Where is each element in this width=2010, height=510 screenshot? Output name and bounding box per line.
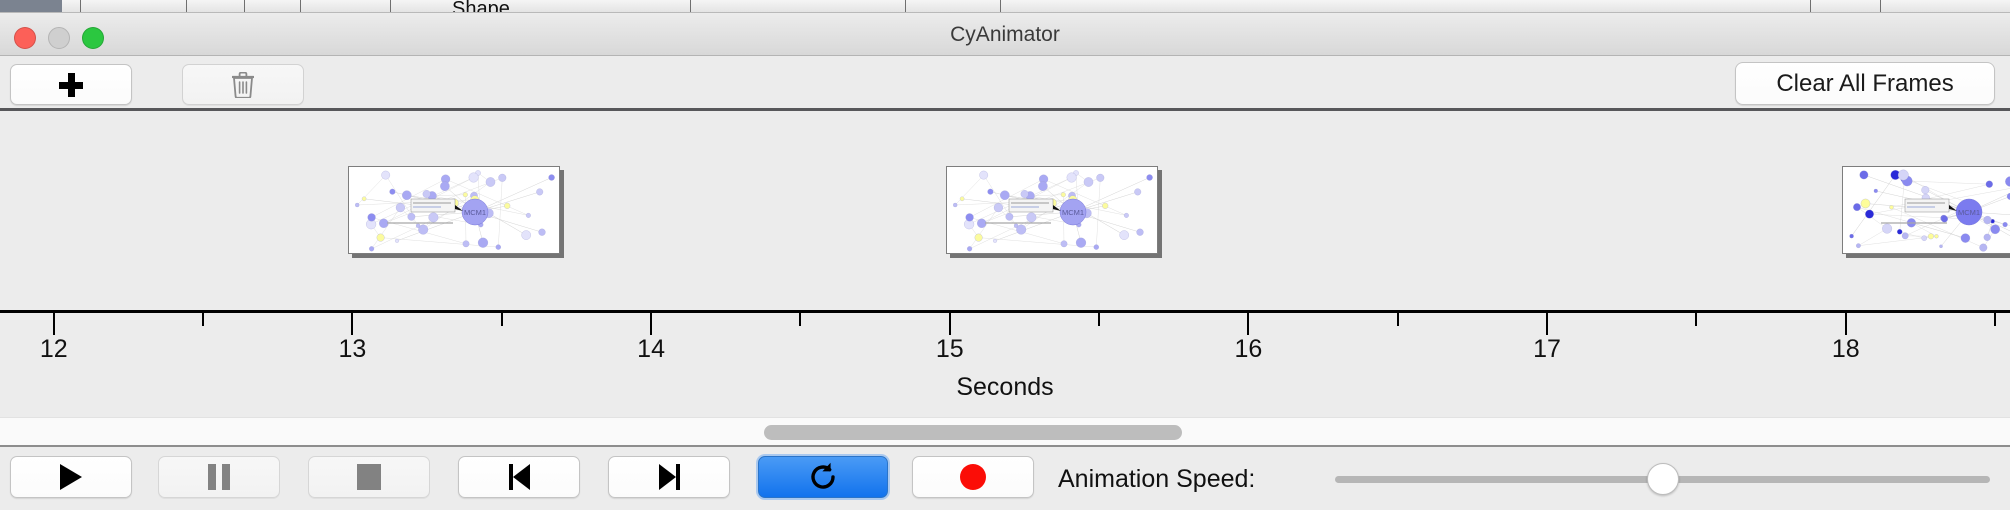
background-window-sidebar bbox=[0, 0, 62, 13]
skip-forward-button[interactable] bbox=[608, 456, 730, 498]
timeline-frame-thumbnail[interactable]: MCM1 bbox=[946, 166, 1158, 254]
axis-tick-label: 13 bbox=[339, 335, 367, 364]
axis-tick-minor bbox=[799, 313, 801, 326]
clear-all-frames-button[interactable]: Clear All Frames bbox=[1735, 62, 1995, 105]
axis-tick-major bbox=[1546, 313, 1548, 335]
timeline-panel[interactable]: MCM1 MCM1 MCM1 12131415161718 Seconds bbox=[0, 111, 2010, 417]
axis-tick-minor bbox=[1994, 313, 1996, 326]
axis-tick-minor bbox=[1695, 313, 1697, 326]
axis-tick-major bbox=[949, 313, 951, 335]
background-divider bbox=[80, 0, 81, 13]
svg-text:MCM1: MCM1 bbox=[1958, 208, 1980, 217]
timeline-frame-thumbnail[interactable]: MCM1 bbox=[1842, 166, 2010, 254]
background-divider bbox=[390, 0, 391, 13]
timeline-axis-title: Seconds bbox=[0, 373, 2010, 402]
title-bar: CyAnimator bbox=[0, 13, 2010, 56]
delete-frame-button[interactable] bbox=[182, 64, 304, 105]
background-divider bbox=[1880, 0, 1881, 13]
trash-icon bbox=[232, 72, 254, 98]
plus-icon bbox=[59, 73, 83, 97]
scrollbar-thumb[interactable] bbox=[764, 425, 1182, 440]
axis-tick-label: 12 bbox=[40, 335, 68, 364]
record-icon bbox=[960, 464, 986, 490]
svg-text:MCM1: MCM1 bbox=[464, 208, 486, 217]
loop-button[interactable] bbox=[758, 456, 888, 498]
axis-tick-major bbox=[351, 313, 353, 335]
animation-speed-slider-knob[interactable] bbox=[1647, 463, 1679, 495]
cyanimator-window: Shape CyAnimator Clear All Frames bbox=[0, 0, 2010, 510]
record-button[interactable] bbox=[912, 456, 1034, 498]
clear-all-frames-label: Clear All Frames bbox=[1776, 70, 1953, 98]
axis-tick-label: 17 bbox=[1533, 335, 1561, 364]
animation-speed-label: Animation Speed: bbox=[1058, 465, 1255, 494]
axis-tick-label: 18 bbox=[1832, 335, 1860, 364]
axis-tick-label: 15 bbox=[936, 335, 964, 364]
background-window-label: Shape bbox=[452, 0, 510, 13]
background-divider bbox=[1000, 0, 1001, 13]
stop-button[interactable] bbox=[308, 456, 430, 498]
svg-text:MCM1: MCM1 bbox=[1062, 208, 1084, 217]
skip-back-button[interactable] bbox=[458, 456, 580, 498]
timeline-frame-thumbnail[interactable]: MCM1 bbox=[348, 166, 560, 254]
axis-tick-major bbox=[1845, 313, 1847, 335]
play-icon bbox=[60, 464, 82, 490]
background-divider bbox=[690, 0, 691, 13]
axis-tick-minor bbox=[1098, 313, 1100, 326]
skip-forward-icon bbox=[659, 464, 680, 490]
axis-tick-major bbox=[650, 313, 652, 335]
skip-back-icon bbox=[509, 464, 530, 490]
stop-icon bbox=[357, 464, 381, 490]
axis-tick-minor bbox=[501, 313, 503, 326]
axis-tick-label: 14 bbox=[637, 335, 665, 364]
add-frame-button[interactable] bbox=[10, 64, 132, 105]
window-title: CyAnimator bbox=[0, 13, 2010, 56]
background-window-strip: Shape bbox=[0, 0, 2010, 13]
background-divider bbox=[905, 0, 906, 13]
background-divider bbox=[186, 0, 187, 13]
frame-toolbar: Clear All Frames bbox=[0, 56, 2010, 111]
timeline-horizontal-scrollbar[interactable] bbox=[0, 417, 2010, 447]
axis-tick-minor bbox=[1397, 313, 1399, 326]
timeline-axis-line bbox=[0, 310, 2010, 313]
axis-tick-major bbox=[1247, 313, 1249, 335]
axis-tick-major bbox=[53, 313, 55, 335]
playback-toolbar: Animation Speed: bbox=[0, 449, 2010, 510]
axis-tick-minor bbox=[202, 313, 204, 326]
loop-icon bbox=[808, 462, 838, 492]
pause-icon bbox=[208, 464, 230, 490]
background-divider bbox=[1810, 0, 1811, 13]
background-divider bbox=[300, 0, 301, 13]
pause-button[interactable] bbox=[158, 456, 280, 498]
axis-tick-label: 16 bbox=[1235, 335, 1263, 364]
play-button[interactable] bbox=[10, 456, 132, 498]
background-divider bbox=[244, 0, 245, 13]
